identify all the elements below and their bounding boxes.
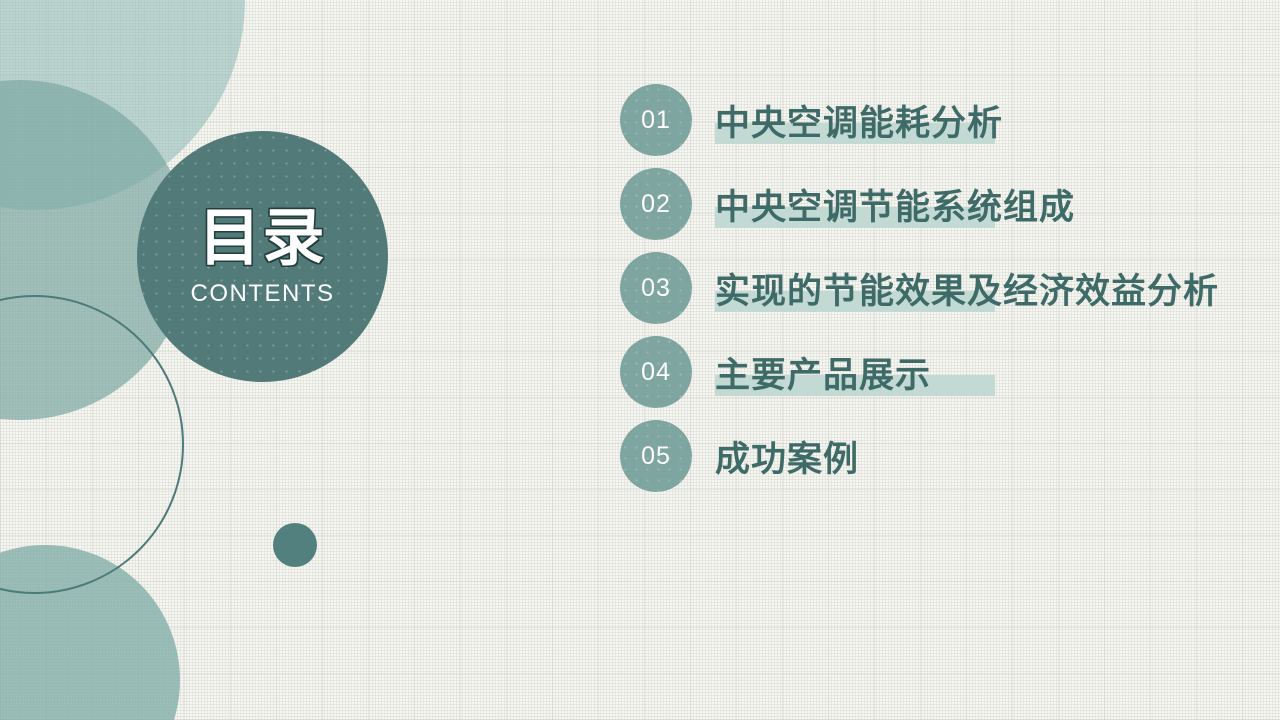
agenda-item-02[interactable]: 02 中央空调节能系统组成 bbox=[620, 162, 1260, 246]
agenda-item-04[interactable]: 04 主要产品展示 bbox=[620, 330, 1260, 414]
agenda-badge-wrap-03: 03 bbox=[620, 252, 692, 324]
agenda-number-badge-04: 04 bbox=[620, 336, 692, 408]
agenda-text-wrap-04: 主要产品展示 bbox=[715, 336, 931, 408]
agenda-item-05[interactable]: 05 成功案例 bbox=[620, 414, 1260, 498]
contents-title-circle: 目录 CONTENTS bbox=[137, 131, 388, 382]
agenda-number-badge-01: 01 bbox=[620, 84, 692, 156]
agenda-item-01[interactable]: 01 中央空调能耗分析 bbox=[620, 78, 1260, 162]
page-subtitle: CONTENTS bbox=[191, 282, 335, 306]
page-title: 目录 bbox=[198, 208, 326, 270]
agenda-list: 01 中央空调能耗分析 02 中央空调节能系统组成 03 bbox=[620, 78, 1260, 498]
agenda-label-04[interactable]: 主要产品展示 bbox=[715, 347, 931, 398]
agenda-number-badge-03: 03 bbox=[620, 252, 692, 324]
agenda-badge-wrap-01: 01 bbox=[620, 84, 692, 156]
agenda-badge-wrap-02: 02 bbox=[620, 168, 692, 240]
agenda-number-badge-05: 05 bbox=[620, 420, 692, 492]
agenda-number-badge-02: 02 bbox=[620, 168, 692, 240]
agenda-text-wrap-05: 成功案例 bbox=[715, 420, 859, 492]
agenda-label-01[interactable]: 中央空调能耗分析 bbox=[715, 95, 1003, 146]
agenda-text-wrap-03: 实现的节能效果及经济效益分析 bbox=[715, 252, 1219, 324]
agenda-label-02[interactable]: 中央空调节能系统组成 bbox=[715, 179, 1075, 230]
decorative-dot bbox=[273, 523, 317, 567]
agenda-label-03[interactable]: 实现的节能效果及经济效益分析 bbox=[715, 263, 1219, 314]
agenda-badge-wrap-04: 04 bbox=[620, 336, 692, 408]
agenda-label-05[interactable]: 成功案例 bbox=[715, 431, 859, 482]
presentation-slide: 目录 CONTENTS 01 中央空调能耗分析 02 中央空调节能系统组成 bbox=[0, 0, 1280, 720]
agenda-badge-wrap-05: 05 bbox=[620, 420, 692, 492]
agenda-item-03[interactable]: 03 实现的节能效果及经济效益分析 bbox=[620, 246, 1260, 330]
agenda-text-wrap-01: 中央空调能耗分析 bbox=[715, 84, 1003, 156]
agenda-text-wrap-02: 中央空调节能系统组成 bbox=[715, 168, 1075, 240]
